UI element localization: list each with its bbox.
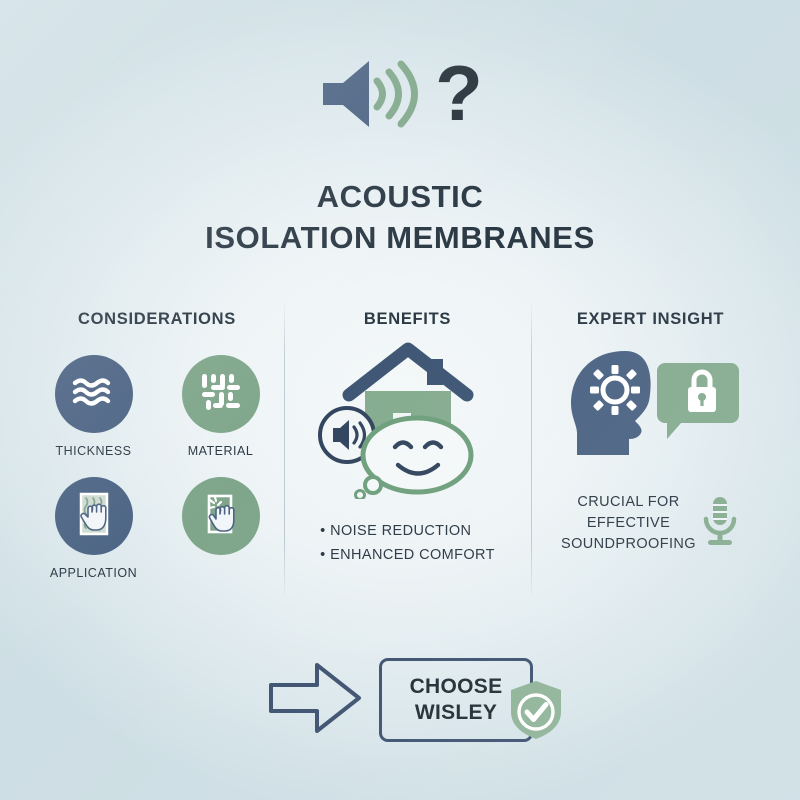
column-heading-benefits: BENEFITS	[284, 310, 531, 329]
consideration-label-material: MATERIAL	[188, 444, 254, 459]
consideration-item-4[interactable]	[165, 477, 277, 581]
microphone-icon	[700, 493, 740, 554]
expert-caption-line-1: EFFECTIVE	[561, 513, 696, 534]
quiet-house-thought-bubble-icon	[315, 339, 501, 504]
arrow-right-outline-icon	[267, 657, 363, 744]
hand-on-panel-icon	[70, 490, 118, 543]
wave-lines-icon	[71, 375, 117, 414]
consideration-item-thickness[interactable]: THICKNESS	[38, 355, 150, 459]
benefits-bullet-list: •NOISE REDUCTION •ENHANCED COMFORT	[320, 520, 495, 568]
thickness-icon-circle	[55, 355, 133, 433]
list-item: •ENHANCED COMFORT	[320, 544, 495, 568]
considerations-icon-grid: THICKNESS	[30, 355, 284, 581]
cta-section[interactable]: CHOOSE WISLEY	[0, 645, 800, 755]
column-heading-considerations: CONSIDERATIONS	[30, 310, 284, 329]
hero-icon-group: ?	[0, 48, 800, 144]
expert-caption-line-2: SOUNDPROOFING	[561, 534, 696, 555]
tap-panel-icon-circle	[182, 477, 260, 555]
benefit-text-1: ENHANCED COMFORT	[330, 547, 495, 563]
expert-caption-line-0: CRUCIAL FOR	[561, 492, 696, 513]
application-icon-circle	[55, 477, 133, 555]
expert-caption-text: CRUCIAL FOR EFFECTIVE SOUNDPROOFING	[561, 492, 696, 555]
choose-wisley-button[interactable]: CHOOSE WISLEY	[379, 658, 533, 742]
cta-label: CHOOSE WISLEY	[410, 674, 503, 725]
expert-caption-group: CRUCIAL FOR EFFECTIVE SOUNDPROOFING	[531, 492, 770, 555]
benefits-bullets-wrap: •NOISE REDUCTION •ENHANCED COMFORT	[284, 504, 531, 568]
benefits-illustration	[284, 339, 531, 504]
page-title: ACOUSTIC ISOLATION MEMBRANES	[0, 176, 800, 258]
hand-tap-panel-icon	[197, 490, 245, 543]
column-benefits: BENEFITS	[284, 300, 531, 600]
consideration-item-application[interactable]: APPLICATION	[38, 477, 150, 581]
bullet-marker-0: •	[320, 520, 330, 544]
column-expert-insight: EXPERT INSIGHT	[531, 300, 770, 600]
cta-line-1: CHOOSE	[410, 674, 503, 700]
question-mark-icon: ?	[435, 54, 483, 132]
speaker-sound-icon	[317, 57, 425, 136]
material-icon-circle	[182, 355, 260, 433]
woven-texture-icon	[198, 369, 244, 420]
column-considerations: CONSIDERATIONS THICKNESS	[30, 300, 284, 600]
consideration-label-thickness: THICKNESS	[55, 444, 131, 459]
expert-illustration	[531, 347, 770, 470]
shield-check-icon	[508, 679, 564, 746]
cta-line-2: WISLEY	[410, 700, 503, 726]
head-with-gear-and-lock-bubble-icon	[555, 347, 747, 470]
list-item: •NOISE REDUCTION	[320, 520, 495, 544]
title-line-1: ACOUSTIC	[0, 176, 800, 217]
cta-inner: CHOOSE WISLEY	[267, 657, 533, 744]
title-line-2: ISOLATION MEMBRANES	[0, 217, 800, 258]
consideration-item-material[interactable]: MATERIAL	[165, 355, 277, 459]
consideration-label-application: APPLICATION	[50, 566, 137, 581]
columns-container: CONSIDERATIONS THICKNESS	[30, 300, 770, 600]
infographic-poster: ? ACOUSTIC ISOLATION MEMBRANES CONSIDERA…	[0, 0, 800, 800]
benefit-text-0: NOISE REDUCTION	[330, 523, 471, 539]
bullet-marker-1: •	[320, 544, 330, 568]
column-heading-expert-insight: EXPERT INSIGHT	[531, 310, 770, 329]
